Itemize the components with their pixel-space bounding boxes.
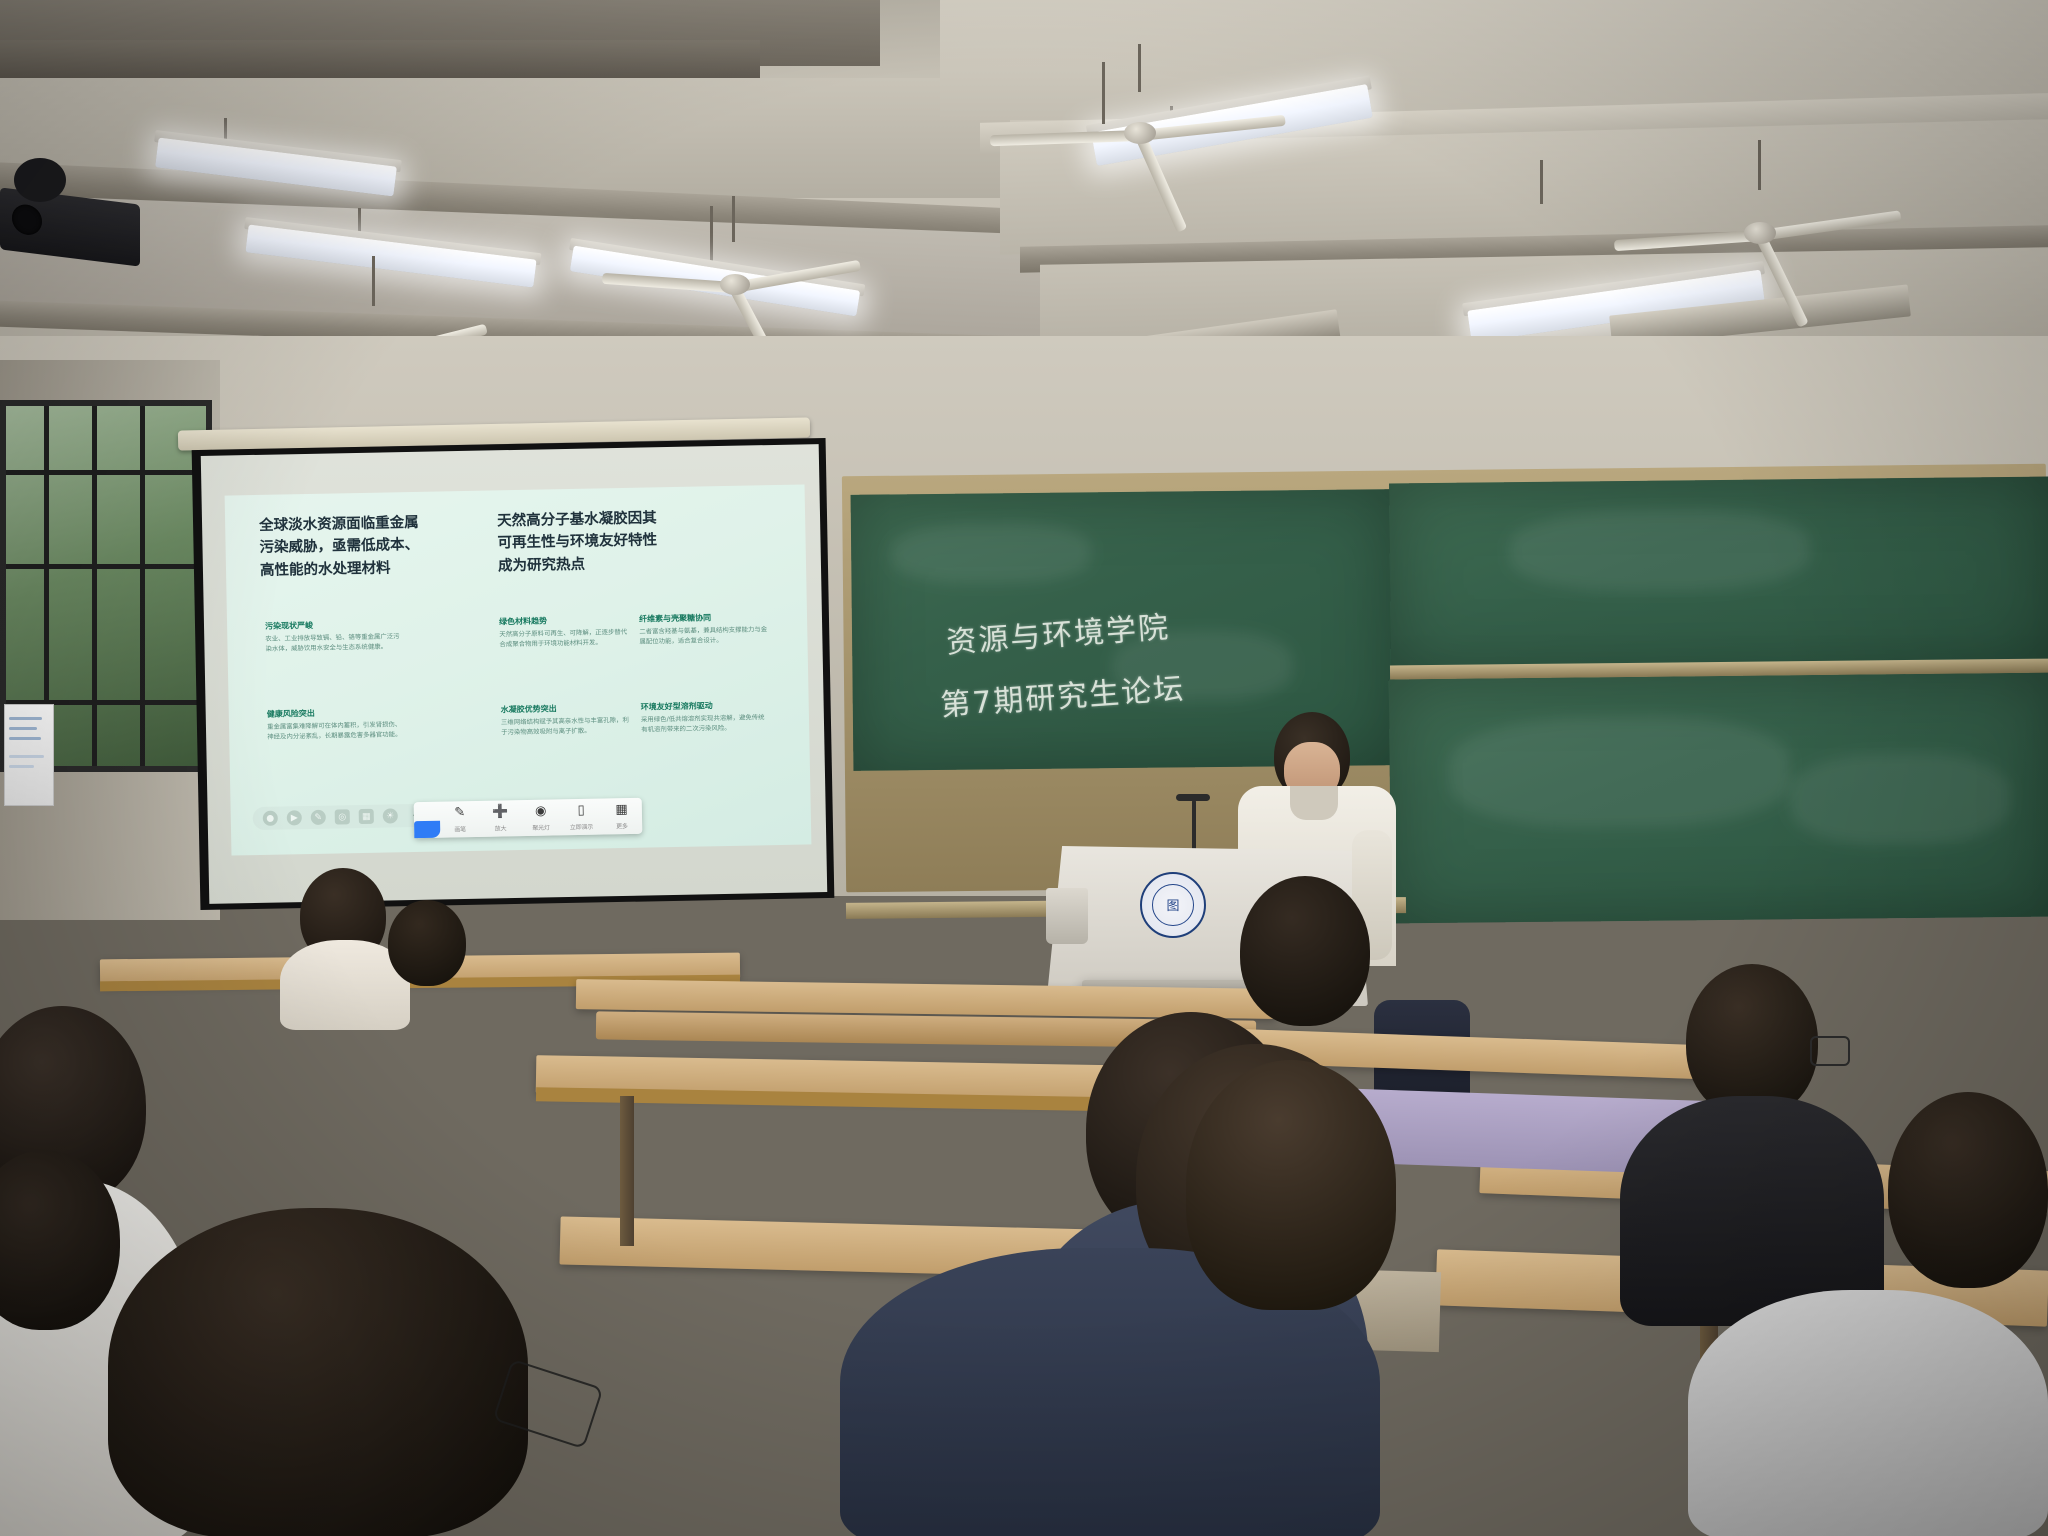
student-9-glasses	[1810, 1036, 1850, 1066]
slide-block-3: 绿色材料趋势 天然高分子原料可再生、可降解，正逐步替代合成聚合物用于环境功能材料…	[499, 614, 628, 650]
student-head-9	[1686, 964, 1818, 1118]
wps-float-toolbar[interactable]: ✎ 画笔 ➕ 放大 ◉ 聚光灯 ▯ 立即演示 ▦ 更多	[414, 798, 643, 838]
float-tool-pen-label: 画笔	[454, 824, 466, 833]
fan-rod-1	[372, 256, 375, 306]
plus-circle-icon: ➕	[492, 803, 509, 820]
slide-headline-left: 全球淡水资源面临重金属 污染威胁，亟需低成本、 高性能的水处理材料	[259, 511, 460, 582]
block-1-heading: 污染现状严峻	[265, 618, 405, 632]
block-5-heading: 纤维素与壳聚糖协同	[639, 611, 767, 624]
block-6-heading: 环境友好型溶剂驱动	[641, 699, 769, 712]
block-1-body: 农业、工业排放导致镉、铅、铬等重金属广泛污染水体，威胁饮用水安全与生态系统健康。	[265, 632, 405, 654]
slide-block-4: 水凝胶优势突出 三维网络结构赋予其高亲水性与丰富孔隙，利于污染物高效吸附与离子扩…	[501, 702, 630, 738]
student-head-10	[1888, 1092, 2048, 1288]
block-2-body: 重金属富集难降解可在体内蓄积，引发肾损伤、神经及内分泌紊乱，长期暴露危害多器官功…	[267, 720, 407, 742]
pen-icon[interactable]: ✎	[311, 810, 326, 825]
laser-pointer-icon[interactable]: ◎	[335, 809, 350, 824]
waste-bin	[1046, 888, 1088, 944]
block-6-body: 采用绿色/低共熔溶剂实现共溶解，避免传统有机溶剂带来的二次污染风险。	[641, 713, 769, 735]
student-head-3	[108, 1208, 528, 1536]
blackboard-right-panel-lower	[1389, 673, 2048, 924]
whiteboard-icon: ▯	[573, 802, 590, 819]
window-bar-h2	[6, 564, 206, 569]
block-4-body: 三维网络结构赋予其高亲水性与丰富孔隙，利于污染物高效吸附与离子扩散。	[501, 716, 629, 738]
window-bar-h1	[6, 470, 206, 475]
presenter-toolbar[interactable]: ● ▶ ✎ ◎ ▦ ☀ ‹	[253, 804, 432, 830]
grid-icon: ▦	[613, 801, 630, 818]
block-5-body: 二者富含羟基与氨基，兼具结构支撑能力与金属配位功能，适合复合设计。	[639, 625, 767, 647]
light-rod-5	[1540, 160, 1543, 204]
student-head-5	[388, 900, 466, 986]
speaker-collar	[1290, 786, 1338, 820]
fan-rod-4	[1758, 140, 1761, 190]
float-tool-more-label: 更多	[616, 821, 628, 830]
headline-right-line-3: 成为研究热点	[498, 551, 698, 577]
classroom-photo: 全球淡水资源面临重金属 污染威胁，亟需低成本、 高性能的水处理材料 天然高分子基…	[0, 0, 2048, 1536]
light-rod-6	[1102, 62, 1105, 124]
float-tool-more[interactable]: ▦ 更多	[601, 801, 642, 835]
float-tool-spotlight[interactable]: ◉ 聚光灯	[520, 802, 561, 836]
projector-mount	[14, 158, 66, 202]
university-crest: 图	[1140, 872, 1206, 938]
microphone-head	[1176, 794, 1210, 801]
slide-block-1: 污染现状严峻 农业、工业排放导致镉、铅、铬等重金属广泛污染水体，威胁饮用水安全与…	[265, 618, 406, 654]
float-tool-zoom[interactable]: ➕ 放大	[480, 803, 521, 837]
float-tool-zoom-label: 放大	[495, 823, 507, 832]
headline-left-line-3: 高性能的水处理材料	[260, 556, 460, 582]
wall-poster	[4, 704, 54, 806]
block-3-body: 天然高分子原料可再生、可降解，正逐步替代合成聚合物用于环境功能材料开发。	[499, 628, 627, 650]
window-bar-v3	[140, 406, 145, 766]
light-rod-3	[710, 206, 713, 262]
globe-icon[interactable]: ☀	[383, 808, 398, 823]
slide-headline-right: 天然高分子基水凝胶因其 可再生性与环境友好特性 成为研究热点	[497, 507, 698, 578]
play-icon[interactable]: ▶	[287, 810, 302, 825]
slide-block-5: 纤维素与壳聚糖协同 二者富含羟基与氨基，兼具结构支撑能力与金属配位功能，适合复合…	[639, 611, 768, 647]
desk-leg-3	[620, 1096, 634, 1246]
fan-rod-3	[1138, 44, 1141, 92]
spotlight-icon: ◉	[532, 803, 549, 820]
crest-inner: 图	[1152, 884, 1194, 926]
block-4-heading: 水凝胶优势突出	[501, 702, 629, 715]
fan-rod-2	[732, 196, 735, 242]
student-head-8	[1186, 1060, 1396, 1310]
float-tool-present[interactable]: ▯ 立即演示	[561, 802, 602, 836]
float-tool-pen[interactable]: ✎ 画笔	[439, 804, 480, 838]
slide-block-6: 环境友好型溶剂驱动 采用绿色/低共熔溶剂实现共溶解，避免传统有机溶剂带来的二次污…	[641, 699, 770, 735]
block-2-heading: 健康风险突出	[267, 706, 407, 720]
wps-logo-tab[interactable]	[414, 821, 440, 838]
block-3-heading: 绿色材料趋势	[499, 614, 627, 627]
student-body-10	[1688, 1290, 2048, 1536]
slideshow-icon[interactable]: ▦	[359, 809, 374, 824]
record-icon[interactable]: ●	[263, 811, 278, 826]
float-tool-spotlight-label: 聚光灯	[532, 823, 550, 832]
blackboard-right-panel-upper	[1389, 477, 2048, 674]
window-bar-v2	[92, 406, 97, 766]
student-head-11	[1240, 876, 1370, 1026]
float-tool-present-label: 立即演示	[570, 822, 593, 831]
slide-block-2: 健康风险突出 重金属富集难降解可在体内蓄积，引发肾损伤、神经及内分泌紊乱，长期暴…	[267, 706, 408, 742]
pen-icon: ✎	[451, 804, 468, 821]
ceiling-concrete-beam-2	[0, 40, 760, 78]
